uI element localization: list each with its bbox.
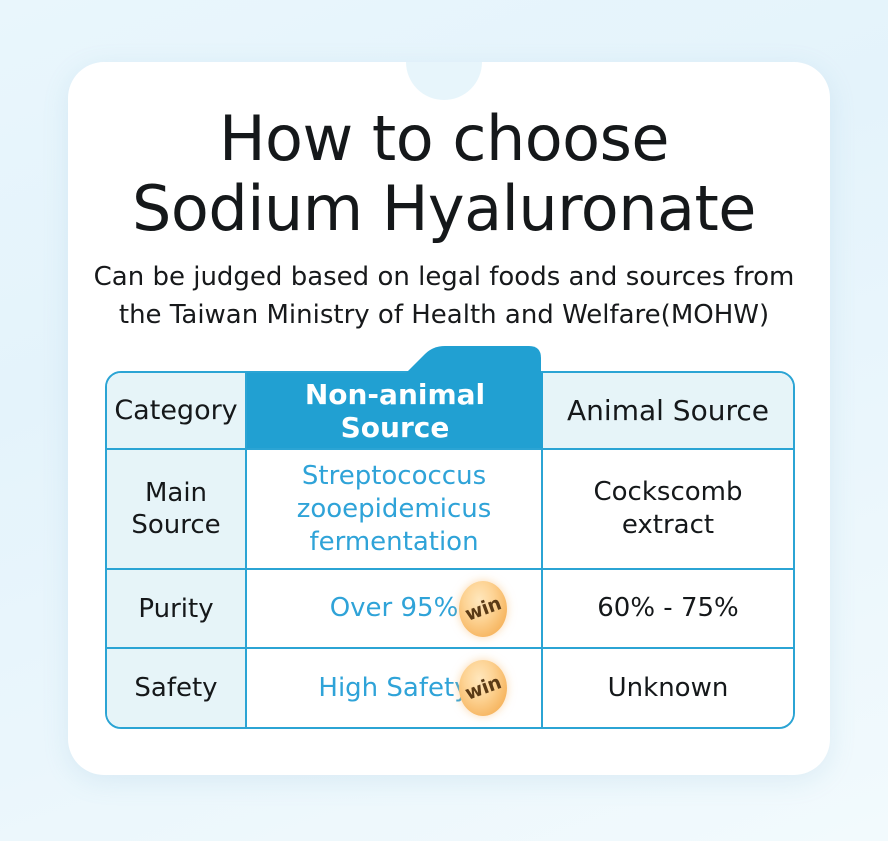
title-line-1: How to choose — [0, 104, 888, 174]
win-badge-icon: win — [459, 660, 507, 716]
comparison-table: Category Non-animal Source Animal Source… — [105, 371, 795, 729]
cell-non-animal-main-source: Streptococcus zooepidemicus fermentation — [247, 450, 543, 568]
row-label-line-1: Main — [131, 477, 220, 509]
row-label-safety: Safety — [107, 649, 247, 727]
cell-non-animal-purity: Over 95% win — [247, 570, 543, 647]
value-line-2: zooepidemicus — [297, 493, 492, 526]
cell-non-animal-safety: High Safety win — [247, 649, 543, 727]
table-header-row: Category Non-animal Source Animal Source — [107, 373, 793, 450]
title-line-2: Sodium Hyaluronate — [0, 174, 888, 244]
cell-animal-main-source: Cockscomb extract — [543, 450, 793, 568]
value-line-1: Streptococcus — [297, 460, 492, 493]
column-header-non-animal-source[interactable]: Non-animal Source — [247, 373, 543, 448]
value-line-3: fermentation — [297, 526, 492, 559]
win-badge-icon: win — [459, 581, 507, 637]
cell-animal-purity: 60% - 75% — [543, 570, 793, 647]
page-title: How to choose Sodium Hyaluronate — [0, 104, 888, 244]
win-badge-label: win — [460, 666, 506, 710]
table-row: Safety High Safety win Unknown — [107, 649, 793, 727]
subtitle-line-1: Can be judged based on legal foods and s… — [0, 258, 888, 296]
row-label-main-source: Main Source — [107, 450, 247, 568]
highlight-tab-shape — [403, 346, 541, 376]
column-header-animal-source: Animal Source — [543, 373, 793, 448]
subtitle-line-2: the Taiwan Ministry of Health and Welfar… — [0, 296, 888, 334]
win-badge-label: win — [460, 587, 506, 631]
row-label-purity: Purity — [107, 570, 247, 647]
cell-animal-safety: Unknown — [543, 649, 793, 727]
infographic-canvas: How to choose Sodium Hyaluronate Can be … — [0, 0, 888, 841]
column-header-category: Category — [107, 373, 247, 448]
value-line-1: Cockscomb — [594, 476, 743, 509]
value-text: High Safety — [318, 672, 469, 705]
table-row: Purity Over 95% win 60% - 75% — [107, 570, 793, 649]
value-line-2: extract — [594, 509, 743, 542]
comparison-table-wrapper: Category Non-animal Source Animal Source… — [105, 371, 795, 729]
page-subtitle: Can be judged based on legal foods and s… — [0, 258, 888, 334]
table-row: Main Source Streptococcus zooepidemicus … — [107, 450, 793, 570]
row-label-line-2: Source — [131, 509, 220, 541]
value-text: Over 95% — [330, 592, 459, 625]
